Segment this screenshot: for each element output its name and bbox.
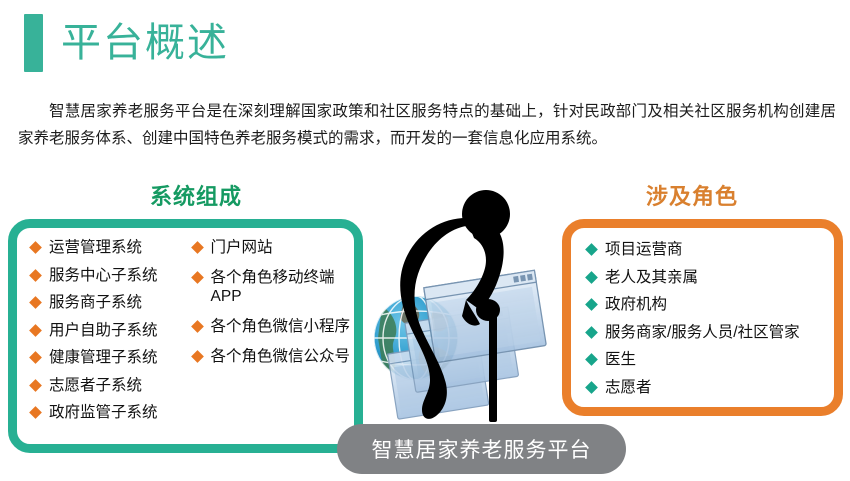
list-item: 政府机构 [587, 295, 834, 314]
title-text: 平台概述 [61, 21, 229, 65]
diamond-bullet-icon [29, 351, 42, 364]
diamond-bullet-icon [585, 353, 598, 366]
diamond-bullet-icon [29, 296, 42, 309]
diamond-bullet-icon [585, 271, 598, 284]
system-composition-column-b: 门户网站 各个角色移动终端APP 各个角色微信小程序 各个角色微信公众号 [187, 238, 354, 444]
diamond-bullet-icon [585, 326, 598, 339]
list-item: 各个角色微信公众号 [193, 347, 354, 366]
diamond-bullet-icon [191, 241, 204, 254]
list-item: 项目运营商 [587, 240, 834, 259]
title-accent-bar [24, 14, 43, 72]
roles-involved-column: 项目运营商 老人及其亲属 政府机构 服务商家/服务人员/社区管家 医生 志愿者 [571, 238, 834, 407]
list-item: 门户网站 [193, 238, 354, 257]
page-title: 平台概述 [24, 14, 229, 72]
diamond-bullet-icon [585, 381, 598, 394]
list-item: 健康管理子系统 [31, 348, 187, 367]
platform-banner: 智慧居家养老服务平台 [337, 424, 626, 474]
list-item: 服务商子系统 [31, 293, 187, 312]
system-composition-column-a: 运营管理系统 服务中心子系统 服务商子系统 用户自助子系统 健康管理子系统 志愿… [17, 238, 187, 444]
diamond-bullet-icon [29, 406, 42, 419]
list-item: 服务中心子系统 [31, 266, 187, 285]
system-composition-list-b: 门户网站 各个角色移动终端APP 各个角色微信小程序 各个角色微信公众号 [193, 238, 354, 366]
list-item: 服务商家/服务人员/社区管家 [587, 323, 834, 342]
diamond-bullet-icon [29, 269, 42, 282]
system-composition-panel: 运营管理系统 服务中心子系统 服务商子系统 用户自助子系统 健康管理子系统 志愿… [8, 219, 363, 453]
roles-involved-list: 项目运营商 老人及其亲属 政府机构 服务商家/服务人员/社区管家 医生 志愿者 [587, 240, 834, 397]
left-panel-heading: 系统组成 [150, 179, 242, 211]
list-item: 各个角色移动终端APP [193, 268, 354, 306]
list-item: 运营管理系统 [31, 238, 187, 257]
diamond-bullet-icon [191, 271, 204, 284]
list-item: 用户自助子系统 [31, 321, 187, 340]
roles-involved-panel: 项目运营商 老人及其亲属 政府机构 服务商家/服务人员/社区管家 医生 志愿者 [562, 219, 843, 416]
slide-canvas: 平台概述 智慧居家养老服务平台是在深刻理解国家政策和社区服务特点的基础上，针对民… [0, 0, 850, 481]
diamond-bullet-icon [29, 324, 42, 337]
list-item: 医生 [587, 350, 834, 369]
diamond-bullet-icon [191, 350, 204, 363]
list-item: 老人及其亲属 [587, 268, 834, 287]
list-item-second-line: APP [211, 287, 335, 306]
right-panel-heading: 涉及角色 [646, 179, 738, 211]
intro-paragraph: 智慧居家养老服务平台是在深刻理解国家政策和社区服务特点的基础上，针对民政部门及相… [18, 98, 836, 152]
platform-banner-label: 智慧居家养老服务平台 [372, 434, 592, 464]
diamond-bullet-icon [29, 241, 42, 254]
elderly-person-globe-windows-illustration [370, 188, 570, 424]
diamond-bullet-icon [585, 298, 598, 311]
list-item: 志愿者 [587, 378, 834, 397]
diamond-bullet-icon [585, 243, 598, 256]
list-item: 志愿者子系统 [31, 376, 187, 395]
system-composition-list-a: 运营管理系统 服务中心子系统 服务商子系统 用户自助子系统 健康管理子系统 志愿… [31, 238, 187, 422]
diamond-bullet-icon [29, 379, 42, 392]
list-item: 政府监管子系统 [31, 403, 187, 422]
diamond-bullet-icon [191, 320, 204, 333]
list-item: 各个角色微信小程序 [193, 317, 354, 336]
